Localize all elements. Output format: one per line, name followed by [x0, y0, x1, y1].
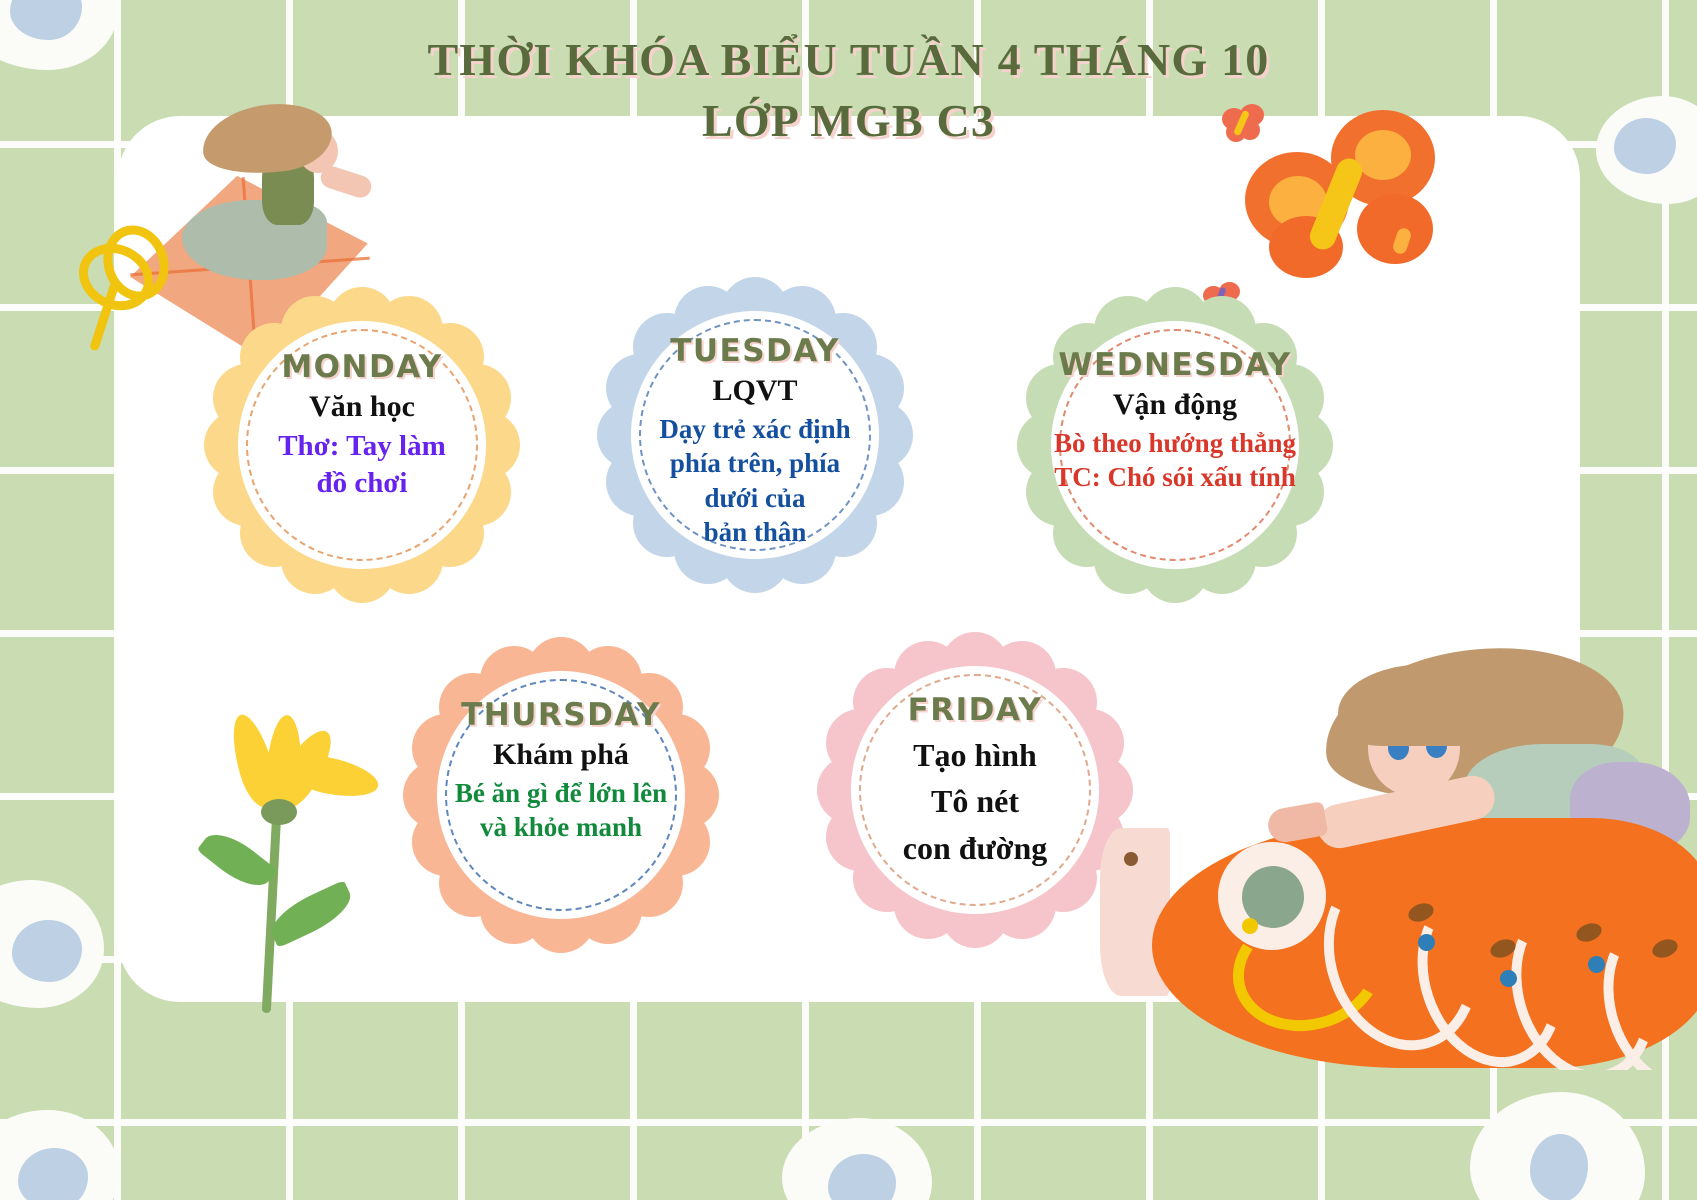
day-cell-friday[interactable]: FRIDAY Tạo hình Tô nét con đường [825, 640, 1125, 940]
flower-leaf-left [197, 823, 278, 897]
day-label-wednesday: WEDNESDAY [1058, 347, 1291, 383]
butterfly-wing-lower-right [1357, 194, 1433, 264]
koi-spot-blue-2 [1500, 970, 1517, 987]
orange-butterfly-small [1222, 104, 1266, 146]
day-detail-thursday: Bé ăn gì để lớn lên và khỏe manh [455, 776, 667, 845]
day-cell-thursday[interactable]: THURSDAY Khám phá Bé ăn gì để lớn lên và… [411, 645, 711, 945]
orange-butterfly-large [1245, 108, 1445, 288]
day-subject-friday: Tạo hình Tô nét con đường [903, 732, 1048, 871]
day-detail-wednesday: Bò theo hướng thẳng TC: Chó sói xấu tính [1054, 426, 1296, 495]
schedule-poster: MONDAY Văn học Thơ: Tay làm đồ chơi TUES… [0, 0, 1697, 1200]
yellow-daisy-flower [175, 665, 395, 1015]
egg-blob-center [10, 0, 82, 40]
koi-yellow-dot [1242, 918, 1258, 934]
flower-center [261, 799, 297, 825]
day-label-tuesday: TUESDAY [670, 333, 840, 369]
koi-spot-blue-1 [1418, 934, 1435, 951]
butterfly-wing-spot-right [1355, 130, 1411, 180]
girl-arm [318, 164, 374, 201]
day-label-friday: FRIDAY [908, 692, 1043, 728]
egg-blob-center [828, 1154, 896, 1200]
koi-head-dot [1124, 852, 1138, 866]
koi-girl-hair-front [1338, 664, 1486, 746]
flower-stem [262, 813, 281, 1013]
day-label-monday: MONDAY [281, 349, 442, 385]
day-detail-tuesday: Dạy trẻ xác định phía trên, phía dưới củ… [659, 412, 850, 550]
day-subject-monday: Văn học [309, 389, 415, 426]
egg-blob-center [1530, 1134, 1588, 1200]
day-subject-wednesday: Vận động [1113, 387, 1237, 424]
day-cell-wednesday[interactable]: WEDNESDAY Vận động Bò theo hướng thẳng T… [1025, 295, 1325, 595]
day-subject-thursday: Khám phá [493, 737, 629, 774]
day-cell-monday[interactable]: MONDAY Văn học Thơ: Tay làm đồ chơi [212, 295, 512, 595]
day-subject-tuesday: LQVT [712, 373, 797, 410]
day-detail-monday: Thơ: Tay làm đồ chơi [278, 428, 446, 502]
koi-spot-blue-3 [1588, 956, 1605, 973]
egg-blob-center [18, 1148, 88, 1200]
egg-blob-center [1614, 118, 1676, 174]
day-label-thursday: THURSDAY [461, 697, 661, 733]
day-cell-tuesday[interactable]: TUESDAY LQVT Dạy trẻ xác định phía trên,… [605, 285, 905, 585]
flower-leaf-right [264, 880, 358, 948]
koi-girl-illustration [1090, 640, 1697, 1070]
egg-blob-center [12, 920, 82, 982]
